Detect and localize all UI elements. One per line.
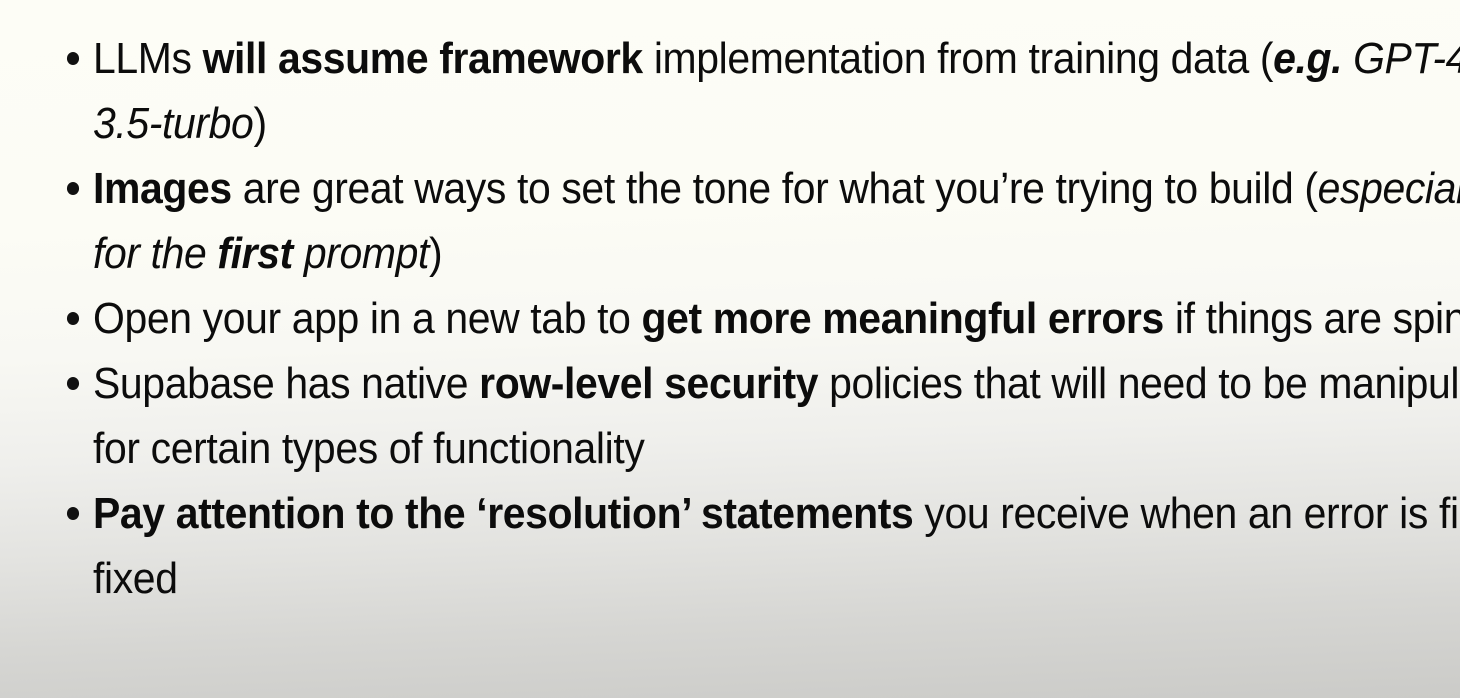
bullet-text: Pay attention to the ‘resolution’ statem… bbox=[93, 481, 1460, 611]
bullet-text: LLMs will assume framework implementatio… bbox=[93, 26, 1460, 156]
list-item: Open your app in a new tab to get more m… bbox=[0, 286, 1460, 351]
bullet-list: LLMs will assume framework implementatio… bbox=[0, 26, 1460, 611]
list-item: Images are great ways to set the tone fo… bbox=[0, 156, 1460, 286]
bullet-dot-icon bbox=[67, 52, 79, 65]
presentation-slide: LLMs will assume framework implementatio… bbox=[0, 0, 1460, 698]
bullet-dot-icon bbox=[67, 182, 79, 195]
bullet-text: Open your app in a new tab to get more m… bbox=[93, 286, 1460, 351]
list-item: LLMs will assume framework implementatio… bbox=[0, 26, 1460, 156]
bullet-dot-icon bbox=[67, 507, 79, 520]
list-item: Supabase has native row-level security p… bbox=[0, 351, 1460, 481]
bullet-dot-icon bbox=[67, 312, 79, 325]
bullet-dot-icon bbox=[67, 377, 79, 390]
bullet-text: Supabase has native row-level security p… bbox=[93, 351, 1460, 481]
bullet-text: Images are great ways to set the tone fo… bbox=[93, 156, 1460, 286]
list-item: Pay attention to the ‘resolution’ statem… bbox=[0, 481, 1460, 611]
